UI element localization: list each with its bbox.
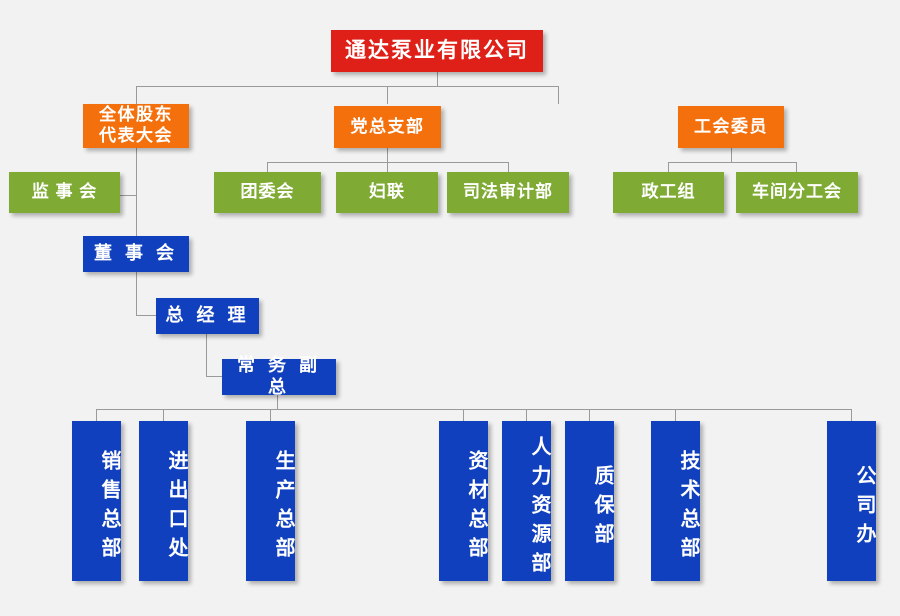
node-human-resources[interactable]: 人力资源部 (502, 421, 551, 581)
connector-gm-down (206, 334, 207, 376)
connector-board-to-gm (136, 315, 156, 316)
node-quality-assurance[interactable]: 质保部 (565, 421, 614, 581)
connector-company-down (437, 72, 438, 86)
node-executive-vp[interactable]: 常 务 副 总 (222, 359, 336, 395)
node-board[interactable]: 董 事 会 (83, 236, 189, 272)
node-materials[interactable]: 资材总部 (439, 421, 488, 581)
node-political-work[interactable]: 政工组 (613, 172, 724, 213)
node-judicial-audit[interactable]: 司法审计部 (447, 172, 569, 213)
node-company[interactable]: 通达泵业有限公司 (331, 30, 543, 72)
connector-to-quality-assurance (589, 409, 590, 421)
node-general-manager[interactable]: 总 经 理 (156, 298, 259, 334)
connector-gm-to-vp (206, 376, 223, 377)
connector-to-union-committee (558, 86, 559, 104)
connector-to-party-branch (387, 86, 388, 104)
connector-to-human-resources (526, 409, 527, 421)
connector-departments-bus (96, 409, 851, 410)
connector-to-sales (96, 409, 97, 421)
node-supervisory[interactable]: 监 事 会 (9, 172, 120, 213)
connector-party-bus (267, 162, 509, 163)
connector-to-technology (675, 409, 676, 421)
connector-to-youth-league (267, 162, 268, 172)
node-shareholders[interactable]: 全体股东 代表大会 (83, 104, 189, 148)
connector-to-political-work (668, 162, 669, 172)
connector-to-womens-federation (387, 162, 388, 172)
connector-board-down (136, 272, 137, 315)
connector-to-supervisory (120, 195, 137, 196)
connector-shareholders-spine (136, 148, 137, 236)
org-chart: 通达泵业有限公司 全体股东 代表大会 党总支部 工会委员 监 事 会 团委会 妇… (0, 0, 900, 616)
node-technology[interactable]: 技术总部 (651, 421, 700, 581)
connector-party-down (387, 148, 388, 162)
node-production[interactable]: 生产总部 (246, 421, 295, 581)
node-youth-league[interactable]: 团委会 (214, 172, 321, 213)
connector-to-import-export (163, 409, 164, 421)
connector-to-workshop-union (796, 162, 797, 172)
node-union-committee[interactable]: 工会委员 (678, 106, 784, 148)
connector-to-company-office (851, 409, 852, 421)
node-import-export[interactable]: 进出口处 (139, 421, 188, 581)
node-workshop-union[interactable]: 车间分工会 (736, 172, 858, 213)
node-womens-federation[interactable]: 妇联 (336, 172, 438, 213)
node-company-office[interactable]: 公司办 (827, 421, 876, 581)
node-party-branch[interactable]: 党总支部 (334, 106, 441, 148)
connector-union-bus (668, 162, 796, 163)
connector-to-materials (463, 409, 464, 421)
connector-union-down (731, 148, 732, 162)
connector-tier2-bus (136, 86, 559, 87)
connector-to-shareholders (136, 86, 137, 104)
connector-to-production (270, 409, 271, 421)
connector-to-judicial-audit (508, 162, 509, 172)
node-sales[interactable]: 销售总部 (72, 421, 121, 581)
